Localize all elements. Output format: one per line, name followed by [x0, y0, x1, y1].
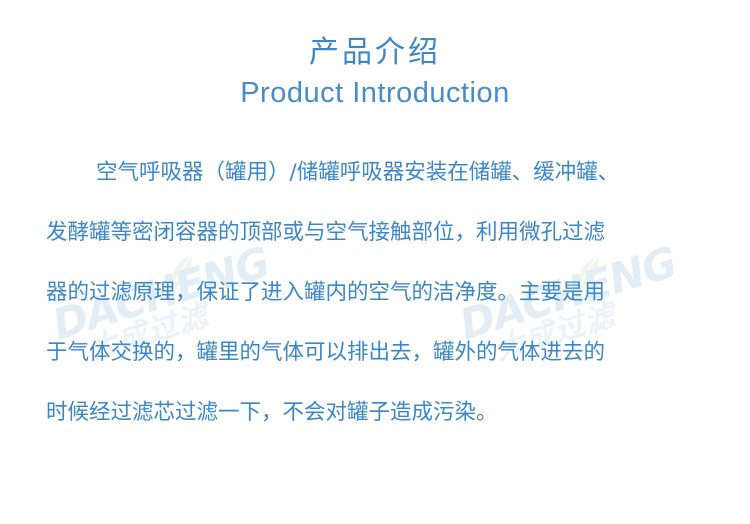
product-description: 空气呼吸器（罐用）/储罐呼吸器安装在储罐、缓冲罐、 发酵罐等密闭容器的顶部或与空… — [0, 113, 750, 443]
description-line: 空气呼吸器（罐用）/储罐呼吸器安装在储罐、缓冲罐、 — [46, 143, 704, 203]
description-line: 器的过滤原理，保证了进入罐内的空气的洁净度。主要是用 — [46, 263, 704, 323]
description-line: 于气体交换的，罐里的气体可以排出去，罐外的气体进去的 — [46, 323, 704, 383]
description-line: 发酵罐等密闭容器的顶部或与空气接触部位，利用微孔过滤 — [46, 203, 704, 263]
description-line: 时候经过滤芯过滤一下，不会对罐子造成污染。 — [46, 383, 704, 443]
page-title-en: Product Introduction — [0, 74, 750, 113]
page-title-cn: 产品介绍 — [0, 34, 750, 72]
product-introduction-page: DACHENG 大成过滤 DACHENG 大成过滤 产品介绍 Product I… — [0, 0, 750, 524]
page-header: 产品介绍 Product Introduction — [0, 0, 750, 113]
